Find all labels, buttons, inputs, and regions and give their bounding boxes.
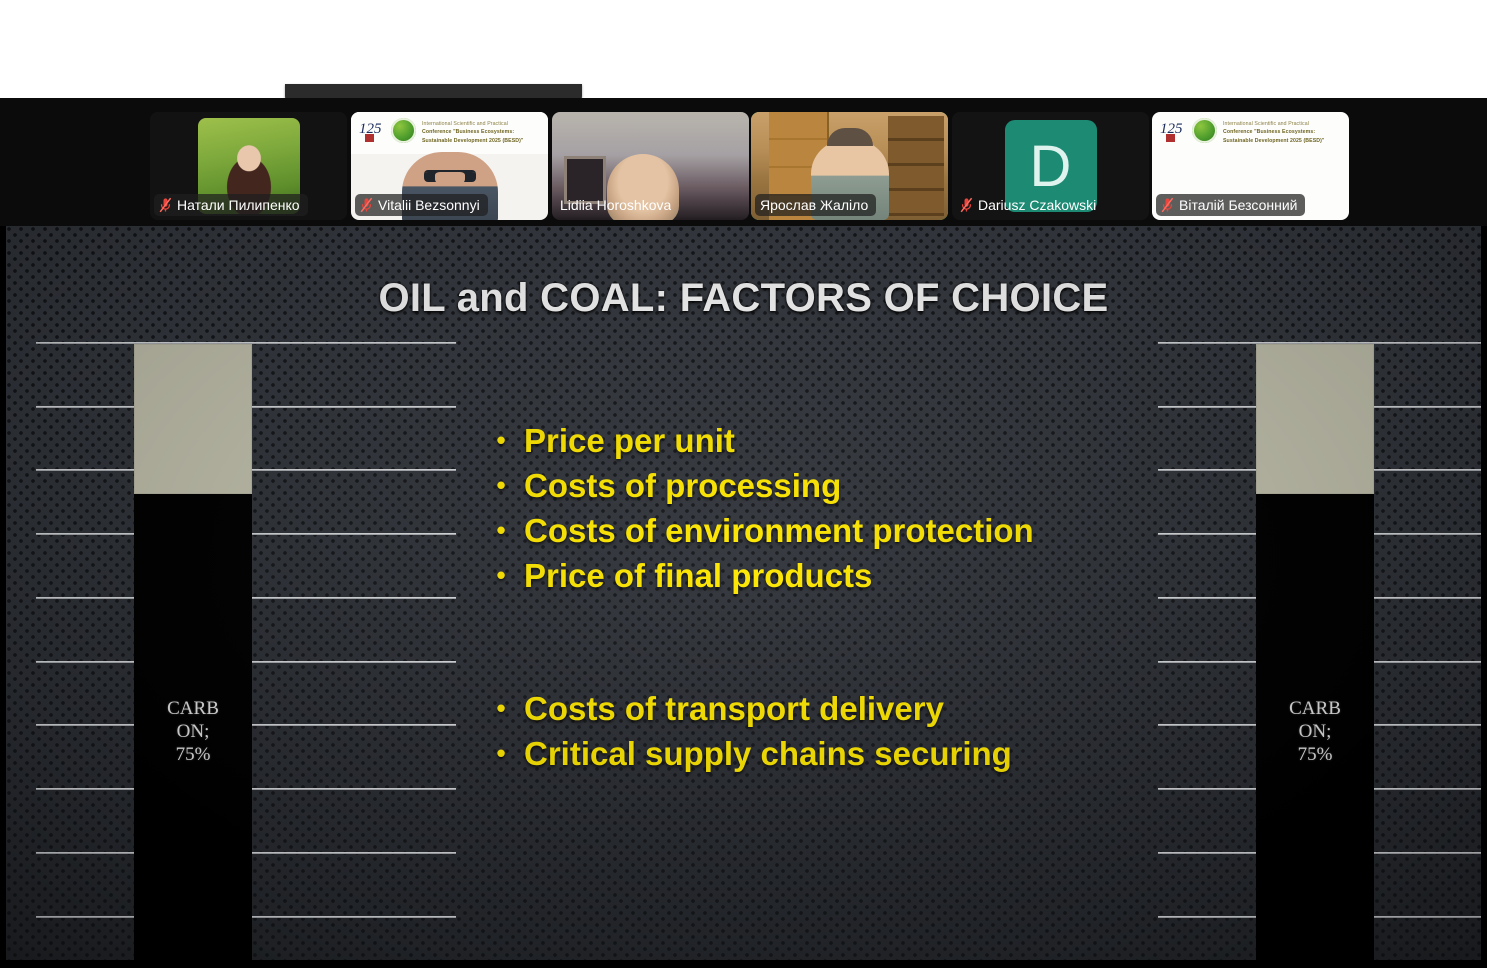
glasses-shape <box>424 170 476 182</box>
chart-bar-column: CARB ON; 75% <box>134 336 252 968</box>
slide-bullet-text: Costs of environment protection <box>524 508 1054 553</box>
participant-tile-vitalii[interactable]: 125 International Scientific and Practic… <box>351 112 548 220</box>
participant-tile-yaroslav[interactable]: Ярослав Жаліло <box>751 112 948 220</box>
university-seal-icon <box>391 118 416 143</box>
background-shelf-shape <box>888 116 944 216</box>
bar-segment-other <box>1256 344 1374 494</box>
participant-tile-natali[interactable]: Натали Пилипенко <box>150 112 347 220</box>
bullet-marker-icon: • <box>494 553 508 598</box>
participant-hair-shape <box>827 128 873 146</box>
bullet-marker-icon: • <box>494 508 508 553</box>
slide-bullet-text: Costs of processing <box>524 463 1054 508</box>
chart-bar-column: CARB ON; 75% <box>1256 336 1374 968</box>
conference-banner-text: International Scientific and Practical C… <box>422 118 523 145</box>
bottom-letterbox <box>0 960 1487 968</box>
slide-bullet-group-1: • Price per unit • Costs of processing •… <box>494 418 1054 598</box>
bullet-marker-icon: • <box>494 686 508 731</box>
bar-segment-other <box>134 344 252 494</box>
logo-125-icon: 125 <box>359 118 385 144</box>
participant-name-chip-vitalii-b: Віталій Безсонний <box>1156 194 1305 216</box>
participant-name-label: Ярослав Жаліло <box>760 194 868 216</box>
slide-bullet-group-2: • Costs of transport delivery • Critical… <box>494 686 1054 776</box>
screen-root: Натали Пилипенко 125 <box>0 0 1487 968</box>
slide-bullet-text: Price of final products <box>524 553 1054 598</box>
conference-banner-text: International Scientific and Practical C… <box>1223 118 1324 145</box>
bullet-marker-icon: • <box>494 463 508 508</box>
participant-name-chip-yaroslav: Ярослав Жаліло <box>755 194 876 216</box>
participant-name-chip-dariusz: Dariusz Czakowski <box>956 194 1104 216</box>
microphone-muted-icon <box>159 197 172 213</box>
slide-title: OIL and COAL: FACTORS OF CHOICE <box>6 276 1481 321</box>
participant-name-chip-natali: Натали Пилипенко <box>154 194 308 216</box>
participant-tile-dariusz[interactable]: D Dariusz Czakowski <box>952 112 1149 220</box>
participant-name-label: Lidiia Horoshkova <box>560 194 671 216</box>
participant-name-chip-vitalii: Vitalii Bezsonnyi <box>355 194 488 216</box>
slide-bullet-text: Critical supply chains securing <box>524 731 1054 776</box>
bar-segment-carbon-label: CARB ON; 75% <box>1256 697 1374 766</box>
microphone-muted-icon <box>1161 197 1174 213</box>
participant-name-label: Vitalii Bezsonnyi <box>378 194 480 216</box>
bar-segment-carbon-label: CARB ON; 75% <box>134 697 252 766</box>
participant-tile-vitalii-b[interactable]: 125 International Scientific and Practic… <box>1152 112 1349 220</box>
slide-bullet-item: • Costs of transport delivery <box>494 686 1054 731</box>
bar-segment-carbon: CARB ON; 75% <box>134 494 252 968</box>
participant-name-label: Віталій Безсонний <box>1179 194 1297 216</box>
slide-bullet-item: • Critical supply chains securing <box>494 731 1054 776</box>
desktop-background <box>0 0 1487 98</box>
left-carbon-chart: CARB ON; 75% <box>36 336 456 968</box>
bullet-marker-icon: • <box>494 731 508 776</box>
microphone-muted-icon <box>360 197 373 213</box>
slide-bullet-item: • Costs of environment protection <box>494 508 1054 553</box>
conference-banner-vitalii: 125 International Scientific and Practic… <box>351 112 548 154</box>
participant-name-chip-lidiia: Lidiia Horoshkova <box>556 194 679 216</box>
shared-screen-area: OIL and COAL: FACTORS OF CHOICE CARB <box>0 226 1487 968</box>
participant-name-label: Dariusz Czakowski <box>978 194 1096 216</box>
participant-tile-lidiia[interactable]: Lidiia Horoshkova <box>552 112 749 220</box>
slide-bullet-text: Costs of transport delivery <box>524 686 1054 731</box>
slide-bullet-item: • Costs of processing <box>494 463 1054 508</box>
slide-bullet-item: • Price per unit <box>494 418 1054 463</box>
presentation-slide: OIL and COAL: FACTORS OF CHOICE CARB <box>6 226 1481 968</box>
slide-bullet-text: Price per unit <box>524 418 1054 463</box>
participant-filmstrip: Натали Пилипенко 125 <box>0 98 1487 226</box>
bullet-marker-icon: • <box>494 418 508 463</box>
university-seal-icon <box>1192 118 1217 143</box>
bar-segment-carbon: CARB ON; 75% <box>1256 494 1374 968</box>
right-carbon-chart: CARB ON; 75% <box>1158 336 1481 968</box>
participant-name-label: Натали Пилипенко <box>177 194 300 216</box>
logo-125-icon: 125 <box>1160 118 1186 144</box>
slide-bullet-item: • Price of final products <box>494 553 1054 598</box>
microphone-muted-icon <box>960 197 973 213</box>
